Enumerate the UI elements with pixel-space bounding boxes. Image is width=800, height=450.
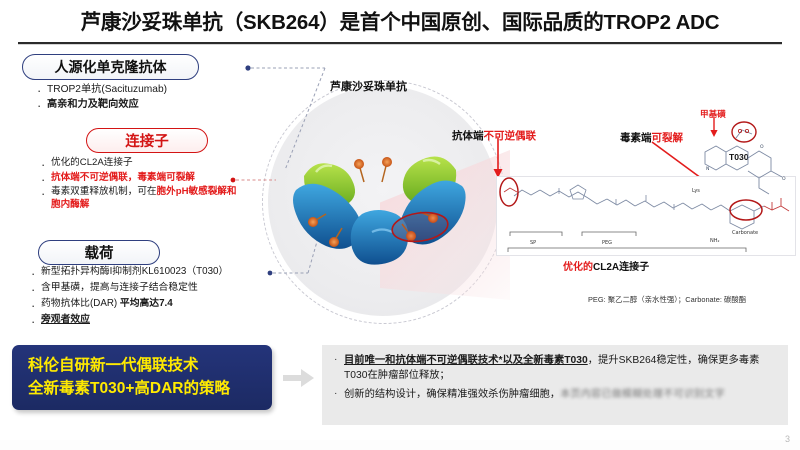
svg-text:PEG: PEG <box>602 240 612 246</box>
summary-text: 创新的结构设计，确保精准强效杀伤肿瘤细胞， <box>344 389 560 400</box>
svg-text:Carbonate: Carbonate <box>732 230 758 236</box>
list-item: 目前唯一和抗体端不可逆偶联技术*以及全新毒素T030，提升SKB264稳定性，确… <box>332 354 776 383</box>
list-item: TROP2单抗(Sacituzumab) <box>36 83 251 96</box>
label-toxin-end-plain: 毒素端 <box>620 132 652 144</box>
bullet-list-payload: 新型拓扑异构酶I抑制剂KL610023（T030） 含甲基磺，提高与连接子结合稳… <box>30 266 260 330</box>
list-item: 含甲基磺，提高与连接子结合稳定性 <box>30 282 260 295</box>
section-header-payload-label: 载荷 <box>85 242 114 263</box>
list-item: 毒素双重释放机制，可在胞外pH敏感裂解和胞内酶解 <box>40 186 240 211</box>
bullet-text-red: 抗体端不可逆偶联，毒素端可裂解 <box>51 172 195 183</box>
chem-footnote: PEG: 聚乙二醇（亲水性强）；Carbonate: 碳酸酯 <box>588 294 746 305</box>
page-title: 芦康沙妥珠单抗（SKB264）是首个中国原创、国际品质的TROP2 ADC <box>0 5 800 35</box>
antibody-illustration <box>290 128 470 268</box>
caption-optimized-linker: 优化的CL2A连接子 <box>563 258 649 273</box>
bullet-list-mab: TROP2单抗(Sacituzumab) 高亲和力及靶向效应 <box>36 83 251 114</box>
bullet-text: 含甲基磺，提高与连接子结合稳定性 <box>41 282 198 293</box>
svg-text:O: O <box>782 176 786 182</box>
bullet-text: 新型拓扑异构酶I抑制剂KL610023（T030） <box>41 266 228 277</box>
bullet-text: 高亲和力及靶向效应 <box>47 99 139 110</box>
bullet-text: 优化的CL2A连接子 <box>51 157 133 168</box>
slide-root: 芦康沙妥珠单抗（SKB264）是首个中国原创、国际品质的TROP2 ADC 人源… <box>0 0 800 450</box>
title-underline <box>0 40 800 48</box>
list-item: 创新的结构设计，确保精准强效杀伤肿瘤细胞，本页内容已做模糊处理不可识别文字 <box>332 388 776 403</box>
bullet-text: 毒素双重释放机制，可在 <box>51 186 157 197</box>
callout-box: 科伦自研新一代偶联技术 全新毒素T030+高DAR的策略 <box>12 345 272 410</box>
footer-bar <box>0 440 800 450</box>
list-item: 药物抗体比(DAR) 平均高达7.4 <box>30 298 260 311</box>
svg-text:N: N <box>706 166 709 172</box>
bullet-text-bold: 旁观者效应 <box>41 314 90 325</box>
page-number: 3 <box>785 434 790 444</box>
bullet-list-linker: 优化的CL2A连接子 抗体端不可逆偶联，毒素端可裂解 毒素双重释放机制，可在胞外… <box>40 157 240 214</box>
section-header-linker-label: 连接子 <box>125 130 169 151</box>
title-band: 芦康沙妥珠单抗（SKB264）是首个中国原创、国际品质的TROP2 ADC <box>0 0 800 42</box>
section-header-mab-label: 人源化单克隆抗体 <box>55 57 167 77</box>
list-item: 优化的CL2A连接子 <box>40 157 240 170</box>
label-antibody-end-plain: 抗体端 <box>452 130 484 142</box>
svg-text:NH₂: NH₂ <box>710 238 720 244</box>
section-header-linker: 连接子 <box>86 128 208 153</box>
redacted-text: 本页内容已做模糊处理不可识别文字 <box>560 388 725 402</box>
list-item: 抗体端不可逆偶联，毒素端可裂解 <box>40 172 240 185</box>
callout-line-2: 全新毒素T030+高DAR的策略 <box>28 378 272 400</box>
section-header-mab: 人源化单克隆抗体 <box>22 54 199 80</box>
svg-text:SP: SP <box>530 240 536 246</box>
caption-red: 优化的 <box>563 262 593 273</box>
list-item: 新型拓扑异构酶I抑制剂KL610023（T030） <box>30 266 260 279</box>
bullet-text-bold: 平均高达7.4 <box>120 298 173 309</box>
svg-text:O: O <box>760 144 764 150</box>
t030-chemical-structure: N O O <box>700 118 796 208</box>
callout-line-1: 科伦自研新一代偶联技术 <box>28 355 272 377</box>
bullet-text: TROP2单抗(Sacituzumab) <box>47 84 167 95</box>
summary-panel: 目前唯一和抗体端不可逆偶联技术*以及全新毒素T030，提升SKB264稳定性，确… <box>322 345 788 425</box>
list-item: 旁观者效应 <box>30 314 260 327</box>
summary-bold-text: 目前唯一和抗体端不可逆偶联技术*以及全新毒素T030 <box>344 355 588 366</box>
arrow-right-icon <box>283 368 315 388</box>
list-item: 高亲和力及靶向效应 <box>36 98 251 111</box>
caption-black: CL2A连接子 <box>593 262 649 273</box>
section-header-payload: 载荷 <box>38 240 160 265</box>
bullet-text: 药物抗体比(DAR) <box>41 298 120 309</box>
